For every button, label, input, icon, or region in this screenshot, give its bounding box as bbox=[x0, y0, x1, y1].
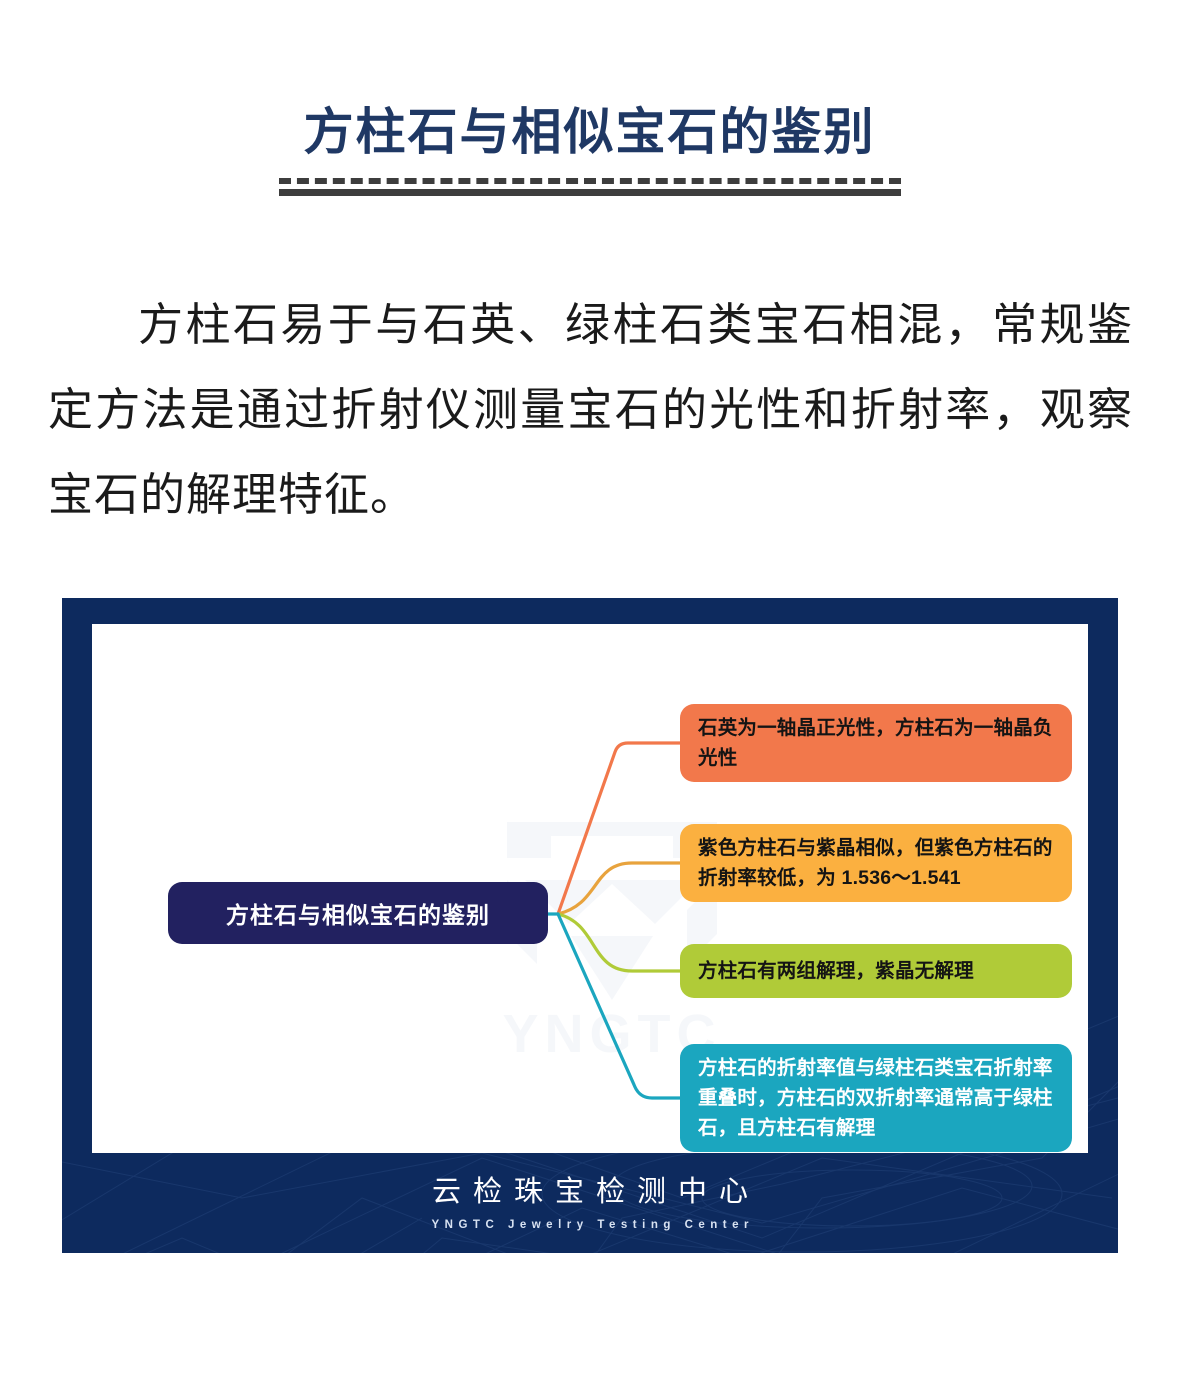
mindmap-branch-3-label: 方柱石有两组解理，紫晶无解理 bbox=[698, 956, 974, 986]
mindmap-center-label: 方柱石与相似宝石的鉴别 bbox=[226, 896, 490, 930]
mindmap-center-node[interactable]: 方柱石与相似宝石的鉴别 bbox=[168, 882, 548, 944]
brand-name-en: YNGTC Jewelry Testing Center bbox=[426, 1219, 754, 1231]
page-title-text: 方柱石与相似宝石的鉴别 bbox=[304, 104, 876, 162]
page-title: 方柱石与相似宝石的鉴别 bbox=[0, 104, 1179, 162]
mindmap-branch-1[interactable]: 石英为一轴晶正光性，方柱石为一轴晶负光性 bbox=[680, 704, 1072, 782]
mindmap-branch-2[interactable]: 紫色方柱石与紫晶相似，但紫色方柱石的折射率较低，为 1.536～1.541 bbox=[680, 824, 1072, 902]
title-underline bbox=[279, 178, 901, 196]
title-dashed-rule bbox=[279, 178, 901, 184]
mindmap-canvas: YNGTC bbox=[92, 624, 1088, 1153]
mindmap-branch-4[interactable]: 方柱石的折射率值与绿柱石类宝石折射率重叠时，方柱石的双折射率通常高于绿柱石，且方… bbox=[680, 1044, 1072, 1152]
mindmap-card: YNGTC bbox=[62, 598, 1118, 1253]
mindmap-branch-4-label: 方柱石的折射率值与绿柱石类宝石折射率重叠时，方柱石的双折射率通常高于绿柱石，且方… bbox=[698, 1053, 1054, 1143]
title-solid-rule bbox=[279, 189, 901, 196]
page-root: 方柱石与相似宝石的鉴别 方柱石易于与石英、绿柱石类宝石相混，常规鉴定方法是通过折… bbox=[0, 0, 1179, 1383]
mindmap: 方柱石与相似宝石的鉴别 石英为一轴晶正光性，方柱石为一轴晶负光性 紫色方柱石与紫… bbox=[92, 624, 1088, 1153]
mindmap-branch-2-label: 紫色方柱石与紫晶相似，但紫色方柱石的折射率较低，为 1.536～1.541 bbox=[698, 833, 1054, 893]
mindmap-branch-3[interactable]: 方柱石有两组解理，紫晶无解理 bbox=[680, 944, 1072, 998]
mindmap-branch-1-label: 石英为一轴晶正光性，方柱石为一轴晶负光性 bbox=[698, 713, 1054, 773]
brand-name-cn: 云检珠宝检测中心 bbox=[420, 1175, 760, 1210]
body-paragraph: 方柱石易于与石英、绿柱石类宝石相混，常规鉴定方法是通过折射仪测量宝石的光性和折射… bbox=[48, 282, 1133, 537]
card-footer: 云检珠宝检测中心 YNGTC Jewelry Testing Center bbox=[62, 1153, 1118, 1253]
